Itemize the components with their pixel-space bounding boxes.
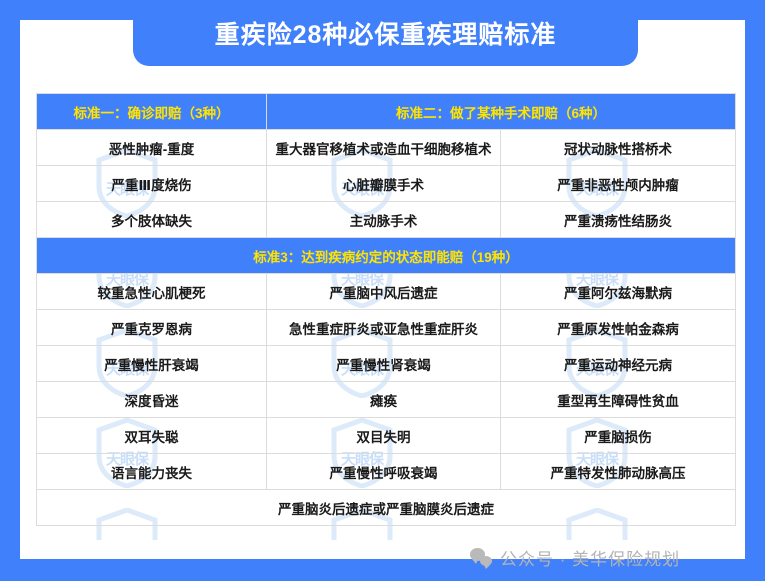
disease-cell: 较重急性心肌梗死 — [37, 274, 267, 310]
table-row: 严重克罗恩病急性重症肝炎或亚急性重症肝炎严重原发性帕金森病 — [37, 310, 736, 346]
disease-cell: 瘫痪 — [267, 382, 501, 418]
disease-cell: 严重慢性肝衰竭 — [37, 346, 267, 382]
disease-cell-merged: 严重脑炎后遗症或严重脑膜炎后遗症 — [37, 490, 736, 526]
footer: 公众号 · 美华保险规划 — [470, 544, 680, 570]
table-row: 严重Ⅲ度烧伤心脏瓣膜手术严重非恶性颅内肿瘤 — [37, 166, 736, 202]
disease-cell: 双目失明 — [267, 418, 501, 454]
table-row: 深度昏迷瘫痪重型再生障碍性贫血 — [37, 382, 736, 418]
table-row-merged: 严重脑炎后遗症或严重脑膜炎后遗症 — [37, 490, 736, 526]
disease-cell: 严重慢性呼吸衰竭 — [267, 454, 501, 490]
disease-cell: 重型再生障碍性贫血 — [501, 382, 736, 418]
disease-cell: 严重特发性肺动脉高压 — [501, 454, 736, 490]
disease-cell: 双耳失聪 — [37, 418, 267, 454]
header-standard-1: 标准一：确诊即赔（3种） — [37, 94, 267, 130]
disease-cell: 语言能力丧失 — [37, 454, 267, 490]
disease-cell: 严重脑中风后遗症 — [267, 274, 501, 310]
title-banner: 重疾险28种必保重疾理赔标准 — [133, 0, 638, 66]
disease-cell: 心脏瓣膜手术 — [267, 166, 501, 202]
disease-cell: 严重非恶性颅内肿瘤 — [501, 166, 736, 202]
frame-left-band — [0, 0, 20, 581]
disease-cell: 重大器官移植术或造血干细胞移植术 — [267, 130, 501, 166]
disease-cell: 多个肢体缺失 — [37, 202, 267, 238]
disease-cell: 严重Ⅲ度烧伤 — [37, 166, 267, 202]
disease-cell: 严重溃疡性结肠炎 — [501, 202, 736, 238]
wechat-icon — [470, 548, 492, 566]
table-row: 多个肢体缺失主动脉手术严重溃疡性结肠炎 — [37, 202, 736, 238]
disease-cell: 严重慢性肾衰竭 — [267, 346, 501, 382]
disease-cell: 严重脑损伤 — [501, 418, 736, 454]
table-row: 恶性肿瘤-重度重大器官移植术或造血干细胞移植术冠状动脉性搭桥术 — [37, 130, 736, 166]
poster-page: 重疾险28种必保重疾理赔标准 天眼保天眼保天眼保天眼保天眼保天眼保天眼保天眼保天… — [0, 0, 765, 581]
header-standard-2: 标准二：做了某种手术即赔（6种） — [267, 94, 736, 130]
header-standard-3: 标准3：达到疾病约定的状态即能赔（19种） — [37, 238, 736, 274]
disease-cell: 深度昏迷 — [37, 382, 267, 418]
disease-cell: 恶性肿瘤-重度 — [37, 130, 267, 166]
table-row: 严重慢性肝衰竭严重慢性肾衰竭严重运动神经元病 — [37, 346, 736, 382]
table-row: 较重急性心肌梗死严重脑中风后遗症严重阿尔兹海默病 — [37, 274, 736, 310]
page-title: 重疾险28种必保重疾理赔标准 — [215, 15, 557, 51]
frame-right-band — [745, 0, 765, 581]
disease-cell: 急性重症肝炎或亚急性重症肝炎 — [267, 310, 501, 346]
critical-illness-table: 标准一：确诊即赔（3种）标准二：做了某种手术即赔（6种）恶性肿瘤-重度重大器官移… — [36, 93, 736, 526]
footer-account-name: 公众号 · 美华保险规划 — [500, 545, 680, 570]
table-row: 语言能力丧失严重慢性呼吸衰竭严重特发性肺动脉高压 — [37, 454, 736, 490]
disease-cell: 严重运动神经元病 — [501, 346, 736, 382]
table-header-row-1: 标准一：确诊即赔（3种）标准二：做了某种手术即赔（6种） — [37, 94, 736, 130]
disease-cell: 主动脉手术 — [267, 202, 501, 238]
disease-cell: 严重克罗恩病 — [37, 310, 267, 346]
disease-cell: 严重阿尔兹海默病 — [501, 274, 736, 310]
disease-cell: 冠状动脉性搭桥术 — [501, 130, 736, 166]
table-header-row-2: 标准3：达到疾病约定的状态即能赔（19种） — [37, 238, 736, 274]
table-row: 双耳失聪双目失明严重脑损伤 — [37, 418, 736, 454]
disease-cell: 严重原发性帕金森病 — [501, 310, 736, 346]
